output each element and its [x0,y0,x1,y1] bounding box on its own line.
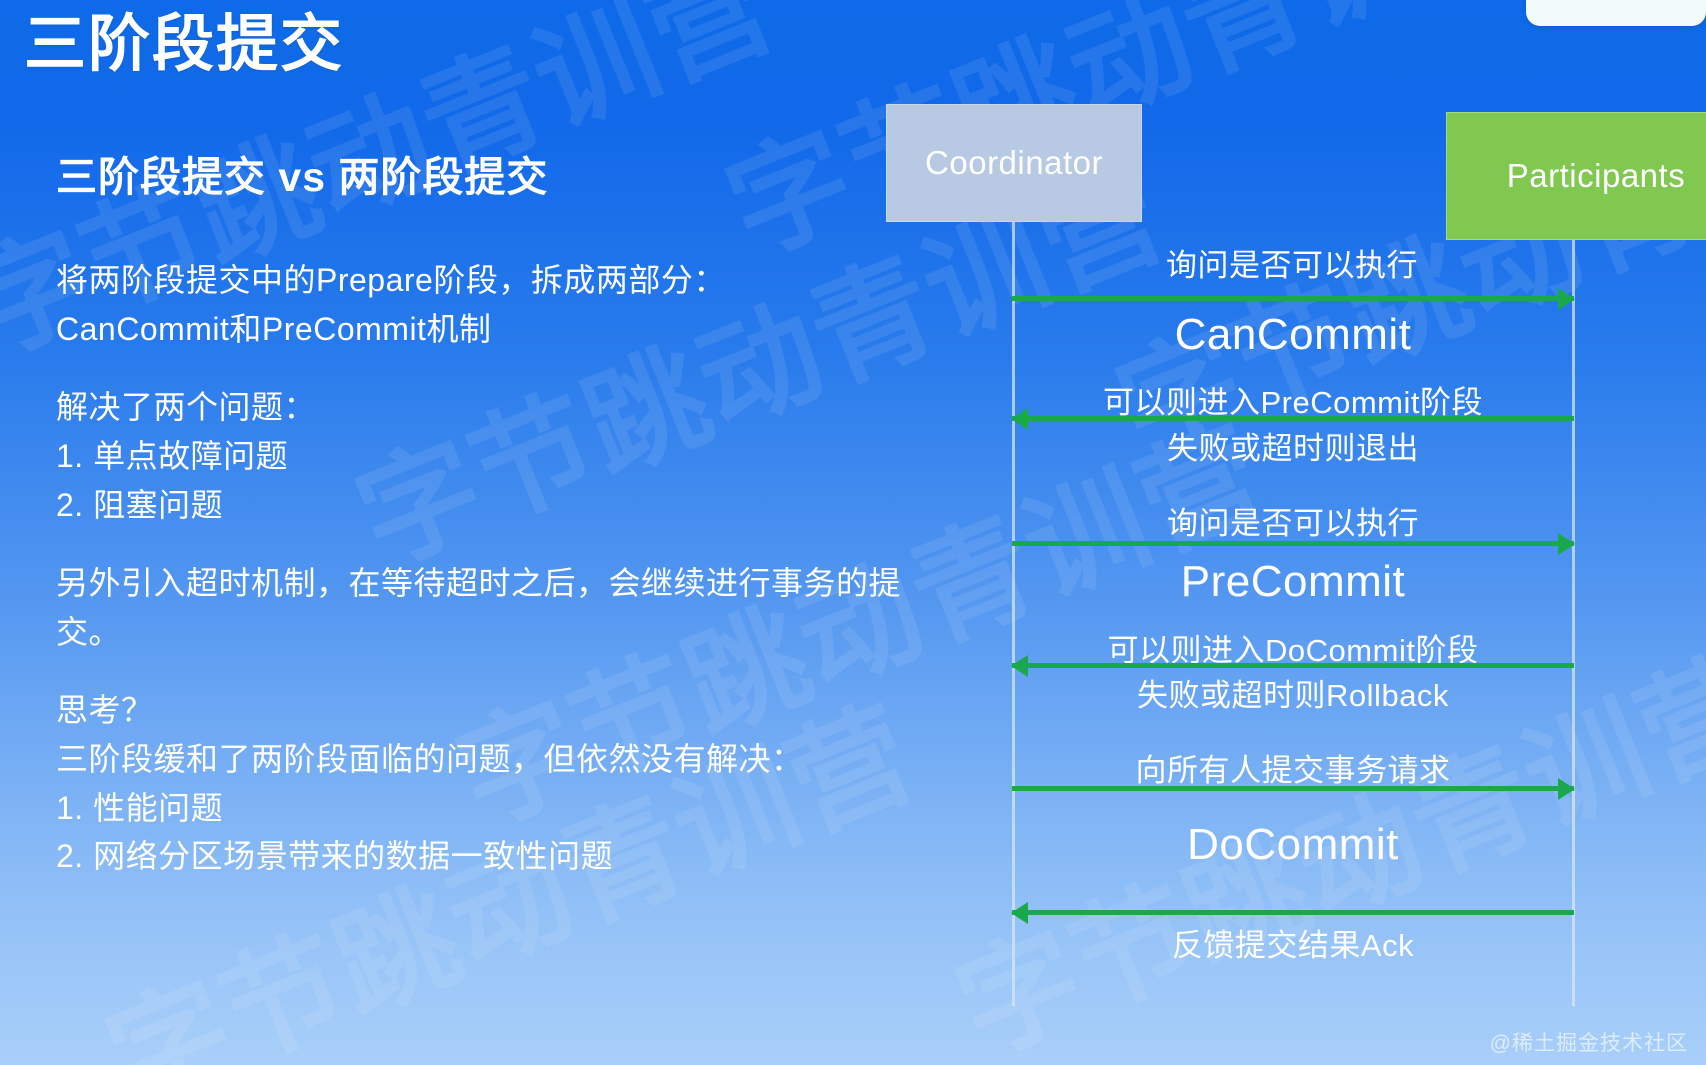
lane-header-participants: Participants [1446,112,1706,240]
body-line: 另外引入超时机制，在等待超时之后，会继续进行事务的提交。 [56,559,936,656]
body-line: 思考？ [56,686,936,735]
body-line: CanCommit和PreCommit机制 [56,305,936,354]
body-line: 解决了两个问题： [56,383,936,432]
body-spacer [56,529,936,559]
lifeline-participants [1572,240,1575,1006]
message-label: 向所有人提交事务请求 [1012,745,1574,790]
lane-label-participants: Participants [1507,157,1685,195]
top-right-badge[interactable] [1526,0,1706,26]
message-arrow-right [1012,786,1574,791]
watermark-text: 字节跳动青训营 [699,0,1556,288]
message-arrow-right [1012,541,1574,546]
phase-label: DoCommit [1012,820,1574,870]
page-title: 三阶段提交 [24,10,344,79]
source-watermark-credit: @稀土掘金技术社区 [1490,1027,1688,1057]
page-subtitle: 三阶段提交 vs 两阶段提交 [56,143,548,203]
body-line: 1. 单点故障问题 [56,432,936,481]
message-label: 询问是否可以执行 [1012,240,1572,285]
body-spacer [56,353,936,383]
watermark-text: 字节跳动青训营 [1089,6,1706,487]
message-label: 失败或超时则Rollback [1012,670,1574,715]
lifeline-coordinator [1012,222,1015,1006]
body-line: 2. 网络分区场景带来的数据一致性问题 [56,832,936,881]
phase-label: CanCommit [1012,310,1574,360]
message-arrow-left [1012,663,1574,668]
message-label: 失败或超时则退出 [1012,423,1574,468]
phase-label: PreCommit [1012,557,1574,607]
message-arrow-left [1012,910,1574,915]
body-spacer [56,656,936,686]
lane-header-coordinator: Coordinator [886,104,1142,222]
message-arrow-right [1012,296,1574,301]
message-label: 反馈提交结果Ack [1012,920,1574,965]
body-line: 三阶段缓和了两阶段面临的问题，但依然没有解决： [56,735,936,784]
body-line: 2. 阻塞问题 [56,481,936,530]
message-arrow-left [1012,416,1574,421]
message-label: 可以则进入PreCommit阶段 [1012,377,1574,422]
presentation-slide: 字节跳动青训营 字节跳动青训营 字节跳动青训营 字节跳动青训营 字节跳动青训营 … [0,0,1706,1065]
body-line: 1. 性能问题 [56,784,936,833]
message-label: 询问是否可以执行 [1012,498,1574,543]
body-text: 将两阶段提交中的Prepare阶段，拆成两部分： CanCommit和PreCo… [56,256,936,881]
watermark-text: 字节跳动青训营 [929,606,1706,1065]
message-label: 可以则进入DoCommit阶段 [1012,625,1574,670]
lane-label-coordinator: Coordinator [925,144,1103,182]
body-line: 将两阶段提交中的Prepare阶段，拆成两部分： [56,256,936,305]
